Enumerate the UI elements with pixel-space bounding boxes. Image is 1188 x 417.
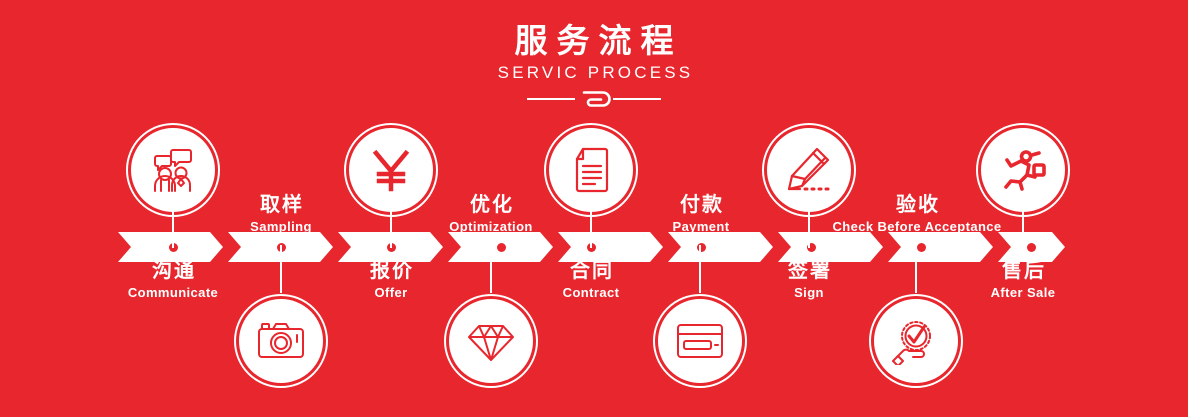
step-label-en: Offer <box>276 284 506 301</box>
arrow-node-dot <box>917 243 926 252</box>
step-label-cn: 合同 <box>476 258 706 283</box>
arrow-node-dot <box>697 243 706 252</box>
page-title-cn: 服务流程 <box>0 22 1188 60</box>
document-icon <box>570 146 612 194</box>
step-icon-payment[interactable] <box>658 299 742 383</box>
step-icon-optimization[interactable] <box>449 299 533 383</box>
paperclip-ornament-icon <box>573 91 615 107</box>
step-label-en: Payment <box>586 218 816 235</box>
step-connector <box>1022 208 1024 248</box>
step-label-after-sale: 售后 After Sale <box>908 258 1138 301</box>
step-label-offer: 报价 Offer <box>276 258 506 301</box>
title-divider <box>527 90 661 108</box>
divider-rule-left <box>527 98 575 100</box>
step-label-en: Contract <box>476 284 706 301</box>
step-label-en: Optimization <box>376 218 606 235</box>
camera-icon <box>256 318 306 364</box>
step-label-cn: 售后 <box>908 258 1138 283</box>
header-title-block: 服务流程 SERVIC PROCESS <box>0 22 1188 108</box>
step-label-en: Sign <box>694 284 924 301</box>
diamond-icon <box>466 318 516 364</box>
divider-rule-right <box>613 98 661 100</box>
hand-check-badge-icon <box>891 317 941 365</box>
infographic-canvas: 服务流程 SERVIC PROCESS <box>0 0 1188 417</box>
yen-currency-icon <box>369 147 413 193</box>
step-label-communicate: 沟通 Communicate <box>58 258 288 301</box>
arrow-node-dot <box>497 243 506 252</box>
page-title-en: SERVIC PROCESS <box>0 62 1188 84</box>
step-label-en: Sampling <box>166 218 396 235</box>
arrow-node-dot <box>1027 243 1036 252</box>
credit-card-icon <box>675 321 725 361</box>
step-label-contract: 合同 Contract <box>476 258 706 301</box>
step-label-cn: 签署 <box>694 258 924 283</box>
people-chat-icon <box>148 145 198 195</box>
step-icon-check-before-acceptance[interactable] <box>874 299 958 383</box>
pencil-signature-icon <box>784 147 834 193</box>
step-icon-sampling[interactable] <box>239 299 323 383</box>
delivery-runner-icon <box>998 148 1048 192</box>
step-label-en: After Sale <box>908 284 1138 301</box>
step-label-en: Check Before Acceptance <box>802 218 1032 235</box>
step-label-en: Communicate <box>58 284 288 301</box>
step-label-cn: 沟通 <box>58 258 288 283</box>
step-label-sign: 签署 Sign <box>694 258 924 301</box>
step-label-cn: 报价 <box>276 258 506 283</box>
step-icon-after-sale[interactable] <box>981 128 1065 212</box>
